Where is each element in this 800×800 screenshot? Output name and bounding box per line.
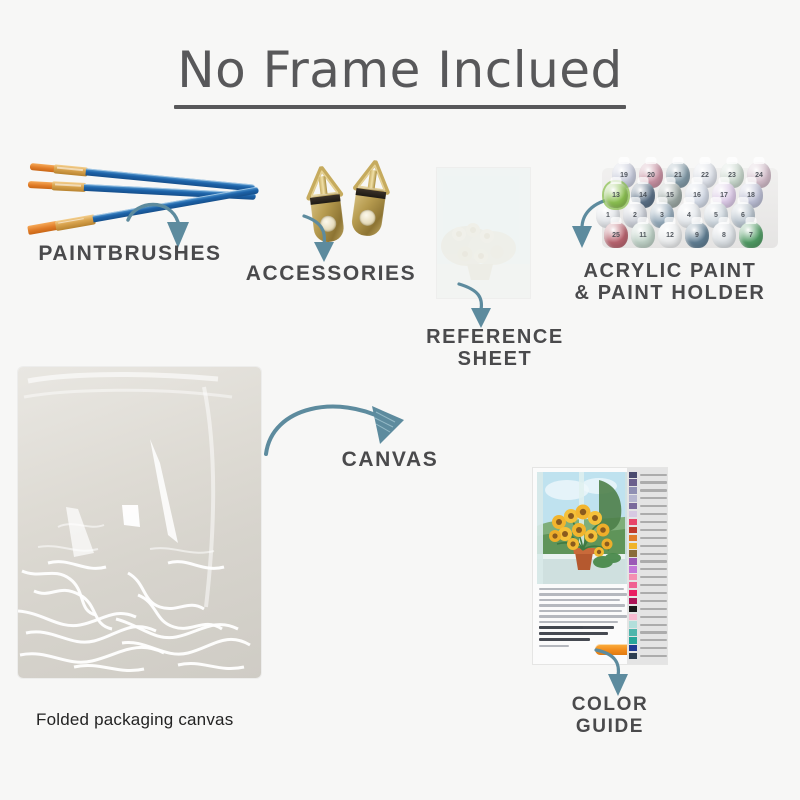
paint-pot-number: 2 (633, 212, 637, 219)
color-swatch-row-5 (627, 503, 667, 510)
color-swatch-chip (629, 535, 637, 541)
color-swatch-row-7 (627, 518, 667, 525)
color-swatch-row-21 (627, 629, 667, 636)
paint-pot-cap (692, 217, 703, 224)
color-swatch-chip (629, 614, 637, 620)
label-reference-sheet-line1: REFERENCE (405, 326, 585, 350)
color-swatch-row-6 (627, 510, 667, 517)
color-swatch-chip (629, 621, 637, 627)
brush-bristles (28, 181, 54, 189)
paint-pot-cap (619, 157, 630, 164)
color-swatch-label (640, 584, 668, 586)
paint-pot-number: 11 (639, 232, 646, 239)
label-reference-sheet-line2: SHEET (405, 348, 585, 372)
color-swatch-label (640, 553, 668, 555)
color-swatch-row-2 (627, 479, 667, 486)
color-swatch-row-17 (627, 597, 667, 604)
paint-pot-cap (719, 217, 730, 224)
paint-pot-cap (611, 177, 622, 184)
color-swatch-row-13 (627, 566, 667, 573)
paint-pot-13: 13 (604, 182, 628, 208)
paint-pot-11: 11 (631, 222, 655, 248)
label-color-guide-line1: COLOR (520, 694, 700, 716)
color-swatch-label (640, 560, 668, 562)
reference-sheet-artwork (437, 168, 530, 298)
color-swatch-row-9 (627, 534, 667, 541)
color-swatch-row-14 (627, 574, 667, 581)
color-swatch-row-18 (627, 605, 667, 612)
color-swatch-chip (629, 511, 637, 517)
paint-pot-cap (692, 177, 703, 184)
color-swatch-chip (629, 472, 637, 478)
label-acrylic-paint-line2: & PAINT HOLDER (545, 282, 795, 306)
sunflower-window-painting (537, 472, 633, 584)
color-swatch-label (640, 474, 668, 476)
color-guide-artwork (537, 472, 633, 584)
paint-pot-number: 9 (695, 232, 699, 239)
color-swatch-label (640, 639, 668, 641)
color-swatch-chip (629, 574, 637, 580)
arrow-to-accessories (300, 214, 350, 268)
color-swatch-row-3 (627, 487, 667, 494)
color-swatch-label (640, 592, 668, 594)
paint-pot-cap (738, 197, 749, 204)
color-swatch-row-16 (627, 589, 667, 596)
color-swatch-chip (629, 637, 637, 643)
color-swatch-label (640, 497, 668, 499)
color-swatch-row-22 (627, 637, 667, 644)
paint-pot-cap (746, 217, 757, 224)
color-swatch-chip (629, 527, 637, 533)
paint-pot-cap (700, 157, 711, 164)
paint-pot-cap (684, 197, 695, 204)
color-swatch-chip (629, 487, 637, 493)
color-swatch-label (640, 616, 668, 618)
color-swatch-chip (629, 479, 637, 485)
brush-bristles (30, 163, 57, 172)
folded-canvas-package (18, 367, 261, 678)
color-swatch-label (640, 600, 668, 602)
color-swatch-label (640, 624, 668, 626)
paint-pot-cap (754, 157, 765, 164)
page-title: No Frame Inclued (0, 44, 800, 97)
color-swatch-strip (627, 468, 667, 664)
color-swatch-chip (629, 590, 637, 596)
paint-pot-cap (646, 157, 657, 164)
color-guide-card (533, 468, 667, 664)
paint-pot-12: 12 (658, 222, 682, 248)
label-color-guide-line2: GUIDE (520, 716, 700, 738)
color-swatch-label (640, 481, 668, 483)
color-swatch-chip (629, 598, 637, 604)
brush-bristles (27, 221, 58, 235)
paint-pot-number: 13 (612, 192, 620, 199)
paint-pot-7: 7 (739, 222, 763, 248)
paint-pot-cap (638, 177, 649, 184)
label-acrylic-paint-line1: ACRYLIC PAINT (545, 260, 795, 284)
color-swatch-row-19 (627, 613, 667, 620)
color-swatch-label (640, 489, 668, 491)
color-swatch-chip (629, 543, 637, 549)
paint-pot-number: 7 (749, 232, 753, 239)
color-swatch-chip (629, 495, 637, 501)
color-swatch-chip (629, 566, 637, 572)
color-swatch-row-12 (627, 558, 667, 565)
paint-pot-cap (719, 177, 730, 184)
color-swatch-chip (629, 558, 637, 564)
paint-pot-cap (665, 217, 676, 224)
paint-pot-number: 8 (722, 232, 726, 239)
color-swatch-chip (629, 582, 637, 588)
color-swatch-row-1 (627, 471, 667, 478)
paint-pot-number: 5 (714, 212, 718, 219)
infographic-root: No Frame Inclued PAINTBRUSHES (0, 0, 800, 800)
paint-pot-number: 4 (687, 212, 691, 219)
paint-pot-cap (638, 217, 649, 224)
color-swatch-row-8 (627, 526, 667, 533)
color-swatch-chip (629, 629, 637, 635)
color-swatch-label (640, 537, 668, 539)
color-swatch-row-10 (627, 542, 667, 549)
label-canvas: CANVAS (290, 448, 490, 473)
color-swatch-label (640, 529, 668, 531)
color-swatch-label (640, 608, 668, 610)
paint-pot-9: 9 (685, 222, 709, 248)
paint-pot-cap (673, 157, 684, 164)
plastic-crinkle-highlights (18, 367, 261, 678)
color-swatch-label (640, 568, 668, 570)
paint-pot-number: 12 (666, 232, 674, 239)
color-swatch-chip (629, 550, 637, 556)
brush-ferrule (52, 181, 86, 192)
paint-pot-cap (665, 177, 676, 184)
paint-pot-cap (727, 157, 738, 164)
d-ring-hanger-2 (344, 157, 397, 242)
color-swatch-chip (629, 519, 637, 525)
color-swatch-row-20 (627, 621, 667, 628)
paint-pot-cap (711, 197, 722, 204)
paint-pot-cap (657, 197, 668, 204)
color-swatch-row-11 (627, 550, 667, 557)
color-swatch-label (640, 513, 668, 515)
caption-folded-packaging-canvas: Folded packaging canvas (36, 710, 276, 730)
brush-ferrule (53, 164, 88, 176)
paint-pot-cap (630, 197, 641, 204)
color-swatch-chip (629, 606, 637, 612)
page-title-wrap: No Frame Inclued (0, 44, 800, 109)
brush-ferrule (55, 214, 96, 231)
title-underline (174, 105, 626, 109)
color-swatch-label (640, 545, 668, 547)
color-swatch-label (640, 631, 668, 633)
paint-pot-number: 3 (660, 212, 664, 219)
color-swatch-row-4 (627, 495, 667, 502)
color-swatch-label (640, 505, 668, 507)
color-swatch-chip (629, 503, 637, 509)
color-swatch-label (640, 521, 668, 523)
color-swatch-label (640, 576, 668, 578)
color-swatch-row-15 (627, 581, 667, 588)
paint-pot-cap (746, 177, 757, 184)
reference-sheet (437, 168, 530, 298)
plastic-sheen (18, 367, 261, 678)
paint-pot-8: 8 (712, 222, 736, 248)
label-accessories: ACCESSORIES (242, 262, 420, 287)
paint-pot-number: 6 (741, 212, 745, 219)
label-paintbrushes: PAINTBRUSHES (22, 242, 238, 267)
